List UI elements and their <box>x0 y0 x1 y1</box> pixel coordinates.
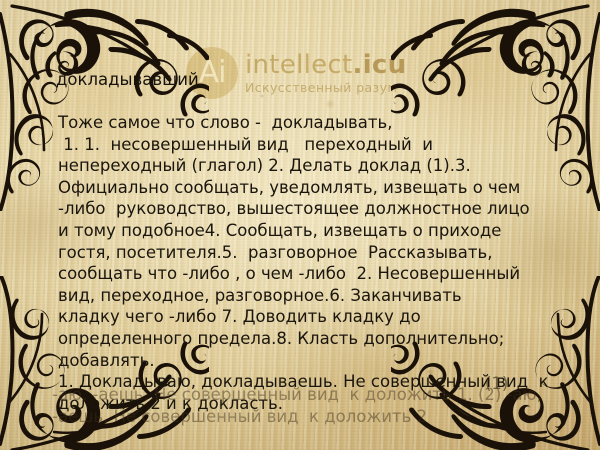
watermark: Ai intellect.icu Искусственный разум <box>186 47 406 99</box>
parchment-slide: Ai intellect.icu Искусственный разум <box>0 0 600 450</box>
watermark-title: intellect.icu <box>245 52 406 78</box>
watermark-text: intellect.icu Искусственный разум <box>245 52 406 95</box>
watermark-title-bold: .icu <box>353 50 407 80</box>
dictionary-entry-faded: -аю, -аешь. Не совершенный вид к доложит… <box>52 384 597 427</box>
watermark-subtitle: Искусственный разум <box>245 82 406 95</box>
watermark-logo-text: Ai <box>199 58 226 88</box>
page-title: докладывавший <box>56 70 199 89</box>
dictionary-entry-body: Тоже самое что слово - докладывать, 1. 1… <box>58 112 588 414</box>
watermark-title-light: intellect <box>245 50 353 80</box>
